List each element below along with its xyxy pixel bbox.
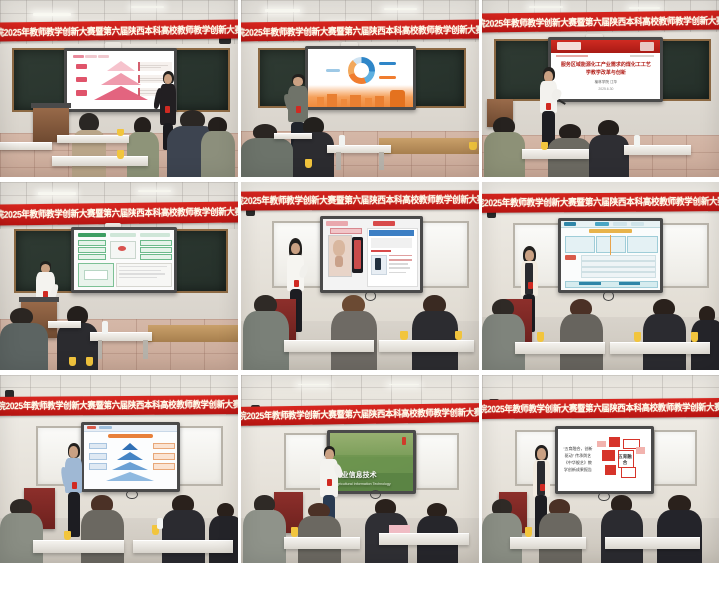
city-skyline	[308, 85, 413, 107]
desk	[133, 540, 233, 552]
desk	[52, 156, 147, 166]
event-banner: 榆林学院2025年教师教学创新大赛暨第六届陕西本科高校教师教学创新大赛选拔赛	[0, 20, 238, 43]
banner-text: 榆林学院2025年教师教学创新大赛暨第六届陕西本科高校教师教学创新大赛选拔赛	[0, 397, 238, 412]
cup	[117, 129, 124, 136]
photo-cell-7[interactable]: 榆林学院2025年教师教学创新大赛暨第六届陕西本科高校教师教学创新大赛选拔赛	[0, 375, 238, 563]
audience-member	[539, 499, 582, 563]
desk	[274, 133, 312, 139]
audience-member	[482, 499, 522, 563]
banner-text: 榆林学院2025年教师教学创新大赛暨第六届陕西本科高校教师教学创新大赛选拔赛	[241, 193, 479, 208]
event-banner: 榆林学院2025年教师教学创新大赛暨第六届陕西本科高校教师教学创新大赛选拔赛	[241, 20, 479, 43]
audience-member	[81, 495, 124, 563]
desk	[33, 540, 123, 552]
slide-center-label: 五育融合	[618, 454, 633, 466]
desk	[48, 321, 81, 328]
whiteboard-right	[417, 221, 469, 287]
audience-member	[601, 495, 644, 563]
desk	[510, 537, 586, 549]
bottle	[634, 135, 640, 147]
audience-member	[412, 295, 457, 370]
event-banner: 榆林学院2025年教师教学创新大赛暨第六届陕西本科高校教师教学创新大赛选拔赛	[0, 395, 238, 416]
event-banner: 榆林学院2025年教师教学创新大赛暨第六届陕西本科高校教师教学创新大赛选拔赛	[241, 191, 479, 211]
audience-member	[657, 495, 702, 563]
desk	[379, 340, 474, 352]
slide-flowchart-green	[74, 230, 174, 290]
banner-text: 榆林学院2025年教师教学创新大赛暨第六届陕西本科高校教师教学创新大赛选拔赛	[482, 195, 719, 211]
audience-member	[643, 299, 686, 370]
slide-title-text: “五育融合，创新驱动” 传承舆艺《中华舰艺》教学创新成果报告	[563, 446, 593, 473]
slide-date-text: 2025.6.30	[560, 87, 652, 91]
cup	[69, 357, 76, 366]
event-banner: 榆林学院2025年教师教学创新大赛暨第六届陕西本科高校教师教学创新大赛选拔赛	[241, 403, 479, 426]
slide-table-teal	[561, 221, 661, 291]
cup	[305, 159, 312, 168]
event-banner: 榆林学院2025年教师教学创新大赛暨第六届陕西本科高校教师教学创新大赛选拔赛	[482, 192, 719, 213]
audience-member	[0, 499, 43, 563]
desk	[515, 342, 605, 354]
photo-cell-3[interactable]: 榆林学院2025年教师教学创新大赛暨第六届陕西本科高校教师教学创新大赛选拔赛 服…	[482, 0, 719, 177]
whiteboard-right	[657, 223, 708, 287]
banner-text: 榆林学院2025年教师教学创新大赛暨第六届陕西本科高校教师教学创新大赛选拔赛	[241, 22, 479, 39]
photo-cell-5[interactable]: 榆林学院2025年教师教学创新大赛暨第六届陕西本科高校教师教学创新大赛选拔赛	[241, 182, 479, 370]
banner-text: 榆林学院2025年教师教学创新大赛暨第六届陕西本科高校教师教学创新大赛选拔赛	[482, 401, 719, 417]
slide-donut-city	[308, 49, 413, 107]
audience-member	[484, 117, 524, 177]
presentation-screen	[320, 216, 424, 293]
audience-member	[200, 117, 236, 177]
whiteboard-right	[415, 433, 459, 490]
desk	[284, 340, 374, 352]
cup	[634, 332, 641, 341]
whiteboard-right	[653, 430, 697, 487]
photo-cell-6[interactable]: 榆林学院2025年教师教学创新大赛暨第六届陕西本科高校教师教学创新大赛选拔赛	[482, 182, 719, 370]
audience-member	[560, 299, 603, 370]
slide-title-coal: 服务区域能源化工产业需求的煤化工工艺学教学改革与创新 榆林学院 江华 2025.…	[551, 40, 660, 98]
stage-step	[379, 138, 479, 154]
slide-title-text: 服务区域能源化工产业需求的煤化工工艺学教学改革与创新	[560, 61, 652, 77]
audience-member	[243, 495, 286, 563]
photo-grid: 榆林学院2025年教师教学创新大赛暨第六届陕西本科高校教师教学创新大赛选拔赛	[0, 0, 719, 603]
bottle	[157, 518, 163, 529]
banner-text: 榆林学院2025年教师教学创新大赛暨第六届陕西本科高校教师教学创新大赛选拔赛	[0, 204, 238, 221]
audience-member	[126, 117, 159, 177]
banner-text: 榆林学院2025年教师教学创新大赛暨第六届陕西本科高校教师教学创新大赛选拔赛	[241, 405, 479, 423]
cup	[525, 527, 532, 536]
cup	[291, 527, 298, 536]
presentation-screen	[305, 46, 416, 110]
audience-member	[298, 503, 341, 563]
slide-pyramid-blue	[84, 425, 177, 489]
audience-member	[0, 308, 48, 370]
desk	[0, 142, 52, 150]
presentation-screen: 服务区域能源化工产业需求的煤化工工艺学教学改革与创新 榆林学院 江华 2025.…	[548, 37, 663, 101]
desk	[379, 533, 469, 545]
slide-diagram-red: “五育融合，创新驱动” 传承舆艺《中华舰艺》教学创新成果报告 五育融合	[558, 429, 650, 491]
audience-member	[71, 113, 107, 177]
desk	[610, 342, 710, 354]
photo-cell-8[interactable]: 榆林学院2025年教师教学创新大赛暨第六届陕西本科高校教师教学创新大赛选拔赛 农…	[241, 375, 479, 563]
desk	[605, 537, 700, 549]
cup	[455, 331, 462, 340]
audience-member	[243, 295, 288, 370]
photo-cell-9[interactable]: 榆林学院2025年教师教学创新大赛暨第六届陕西本科高校教师教学创新大赛选拔赛 “…	[482, 375, 719, 563]
event-banner: 榆林学院2025年教师教学创新大赛暨第六届陕西本科高校教师教学创新大赛选拔赛	[0, 201, 238, 225]
photo-cell-1[interactable]: 榆林学院2025年教师教学创新大赛暨第六届陕西本科高校教师教学创新大赛选拔赛	[0, 0, 238, 177]
audience-member	[589, 120, 629, 177]
banner-text: 榆林学院2025年教师教学创新大赛暨第六届陕西本科高校教师教学创新大赛选拔赛	[482, 14, 719, 31]
photo-cell-2[interactable]: 榆林学院2025年教师教学创新大赛暨第六届陕西本科高校教师教学创新大赛选拔赛	[241, 0, 479, 177]
presentation-screen	[558, 218, 664, 294]
cup	[400, 331, 407, 340]
banner-text: 榆林学院2025年教师教学创新大赛暨第六届陕西本科高校教师教学创新大赛选拔赛	[0, 22, 238, 39]
bottle	[102, 321, 108, 334]
presentation-screen	[71, 227, 177, 293]
audience-member	[331, 295, 376, 370]
bottle	[339, 135, 345, 147]
audience-member	[209, 503, 238, 563]
presentation-screen	[81, 422, 180, 492]
audience-member	[162, 495, 205, 563]
stage-step	[148, 325, 238, 342]
photo-cell-4[interactable]: 榆林学院2025年教师教学创新大赛暨第六届陕西本科高校教师教学创新大赛选拔赛	[0, 182, 238, 370]
cup	[537, 332, 544, 341]
presentation-screen: “五育融合，创新驱动” 传承舆艺《中华舰艺》教学创新成果报告 五育融合	[555, 426, 653, 494]
cup	[86, 357, 93, 366]
desk	[522, 149, 588, 159]
desk	[284, 537, 360, 549]
slide-subtitle-text: 榆林学院 江华	[560, 80, 652, 85]
cup	[117, 150, 124, 159]
audience-member	[482, 299, 525, 370]
whiteboard-right	[176, 426, 223, 486]
event-banner: 榆林学院2025年教师教学创新大赛暨第六届陕西本科高校教师教学创新大赛选拔赛	[482, 11, 719, 34]
cup	[691, 332, 698, 341]
cup	[469, 142, 476, 151]
slide-cosmetics-case	[323, 219, 421, 290]
event-banner: 榆林学院2025年教师教学创新大赛暨第六届陕西本科高校教师教学创新大赛选拔赛	[482, 398, 719, 419]
